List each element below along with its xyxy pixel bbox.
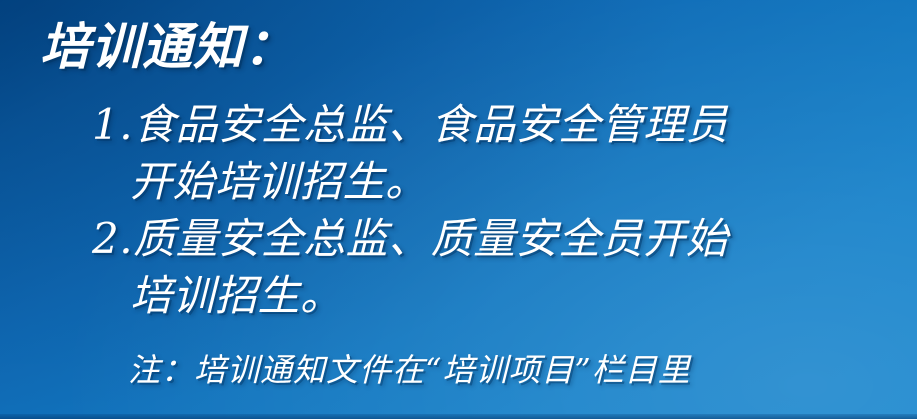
list-item-number: 1. (92, 100, 133, 149)
list-item: 1.食品安全总监、食品安全管理员 开始培训招生。 (92, 96, 912, 210)
list-item-line: 2.质量安全总监、质量安全员开始 (92, 210, 912, 267)
list-item-line: 1.食品安全总监、食品安全管理员 (92, 96, 912, 153)
list-item-text: 食品安全总监、食品安全管理员 (133, 100, 728, 149)
list-item-text: 质量安全总监、质量安全员开始 (133, 214, 728, 263)
list-item-text-continued: 开始培训招生。 (92, 153, 912, 210)
notice-list: 1.食品安全总监、食品安全管理员 开始培训招生。 2.质量安全总监、质量安全员开… (92, 96, 912, 324)
list-item-number: 2. (92, 214, 133, 263)
list-item-text-continued: 培训招生。 (92, 267, 912, 324)
footnote: 注：培训通知文件在“培训项目”栏目里 (128, 348, 691, 392)
page-title: 培训通知： (40, 16, 295, 78)
notice-slide: 培训通知： 1.食品安全总监、食品安全管理员 开始培训招生。 2.质量安全总监、… (0, 0, 917, 419)
list-item: 2.质量安全总监、质量安全员开始 培训招生。 (92, 210, 912, 324)
slide-content: 培训通知： 1.食品安全总监、食品安全管理员 开始培训招生。 2.质量安全总监、… (0, 0, 917, 419)
